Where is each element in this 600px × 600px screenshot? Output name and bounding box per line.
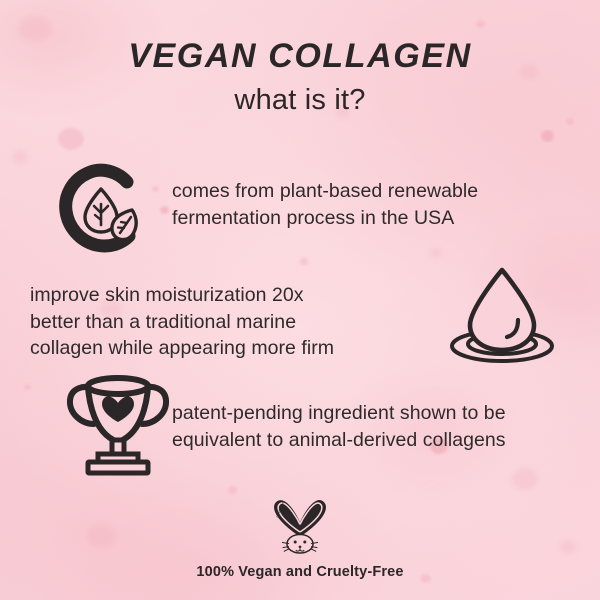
cruelty-free-caption: 100% Vegan and Cruelty-Free [0, 564, 600, 580]
feature-text-moisturization: improve skin moisturization 20x better t… [30, 282, 334, 362]
cruelty-free-bunny-heart-icon: cruelty free [262, 498, 338, 563]
feature-text-patent-pending: patent-pending ingredient shown to be eq… [172, 400, 506, 453]
page-subtitle: what is it? [0, 82, 600, 118]
trophy-heart-icon [62, 372, 174, 481]
page-title: VEGAN COLLAGEN [0, 36, 600, 76]
collagen-c-icon [57, 162, 147, 263]
infographic-poster: VEGAN COLLAGEN what is it? comes from pl… [0, 0, 600, 600]
water-droplet-ripple-icon [446, 262, 558, 371]
feature-text-fermentation: comes from plant-based renewable ferment… [172, 178, 478, 231]
